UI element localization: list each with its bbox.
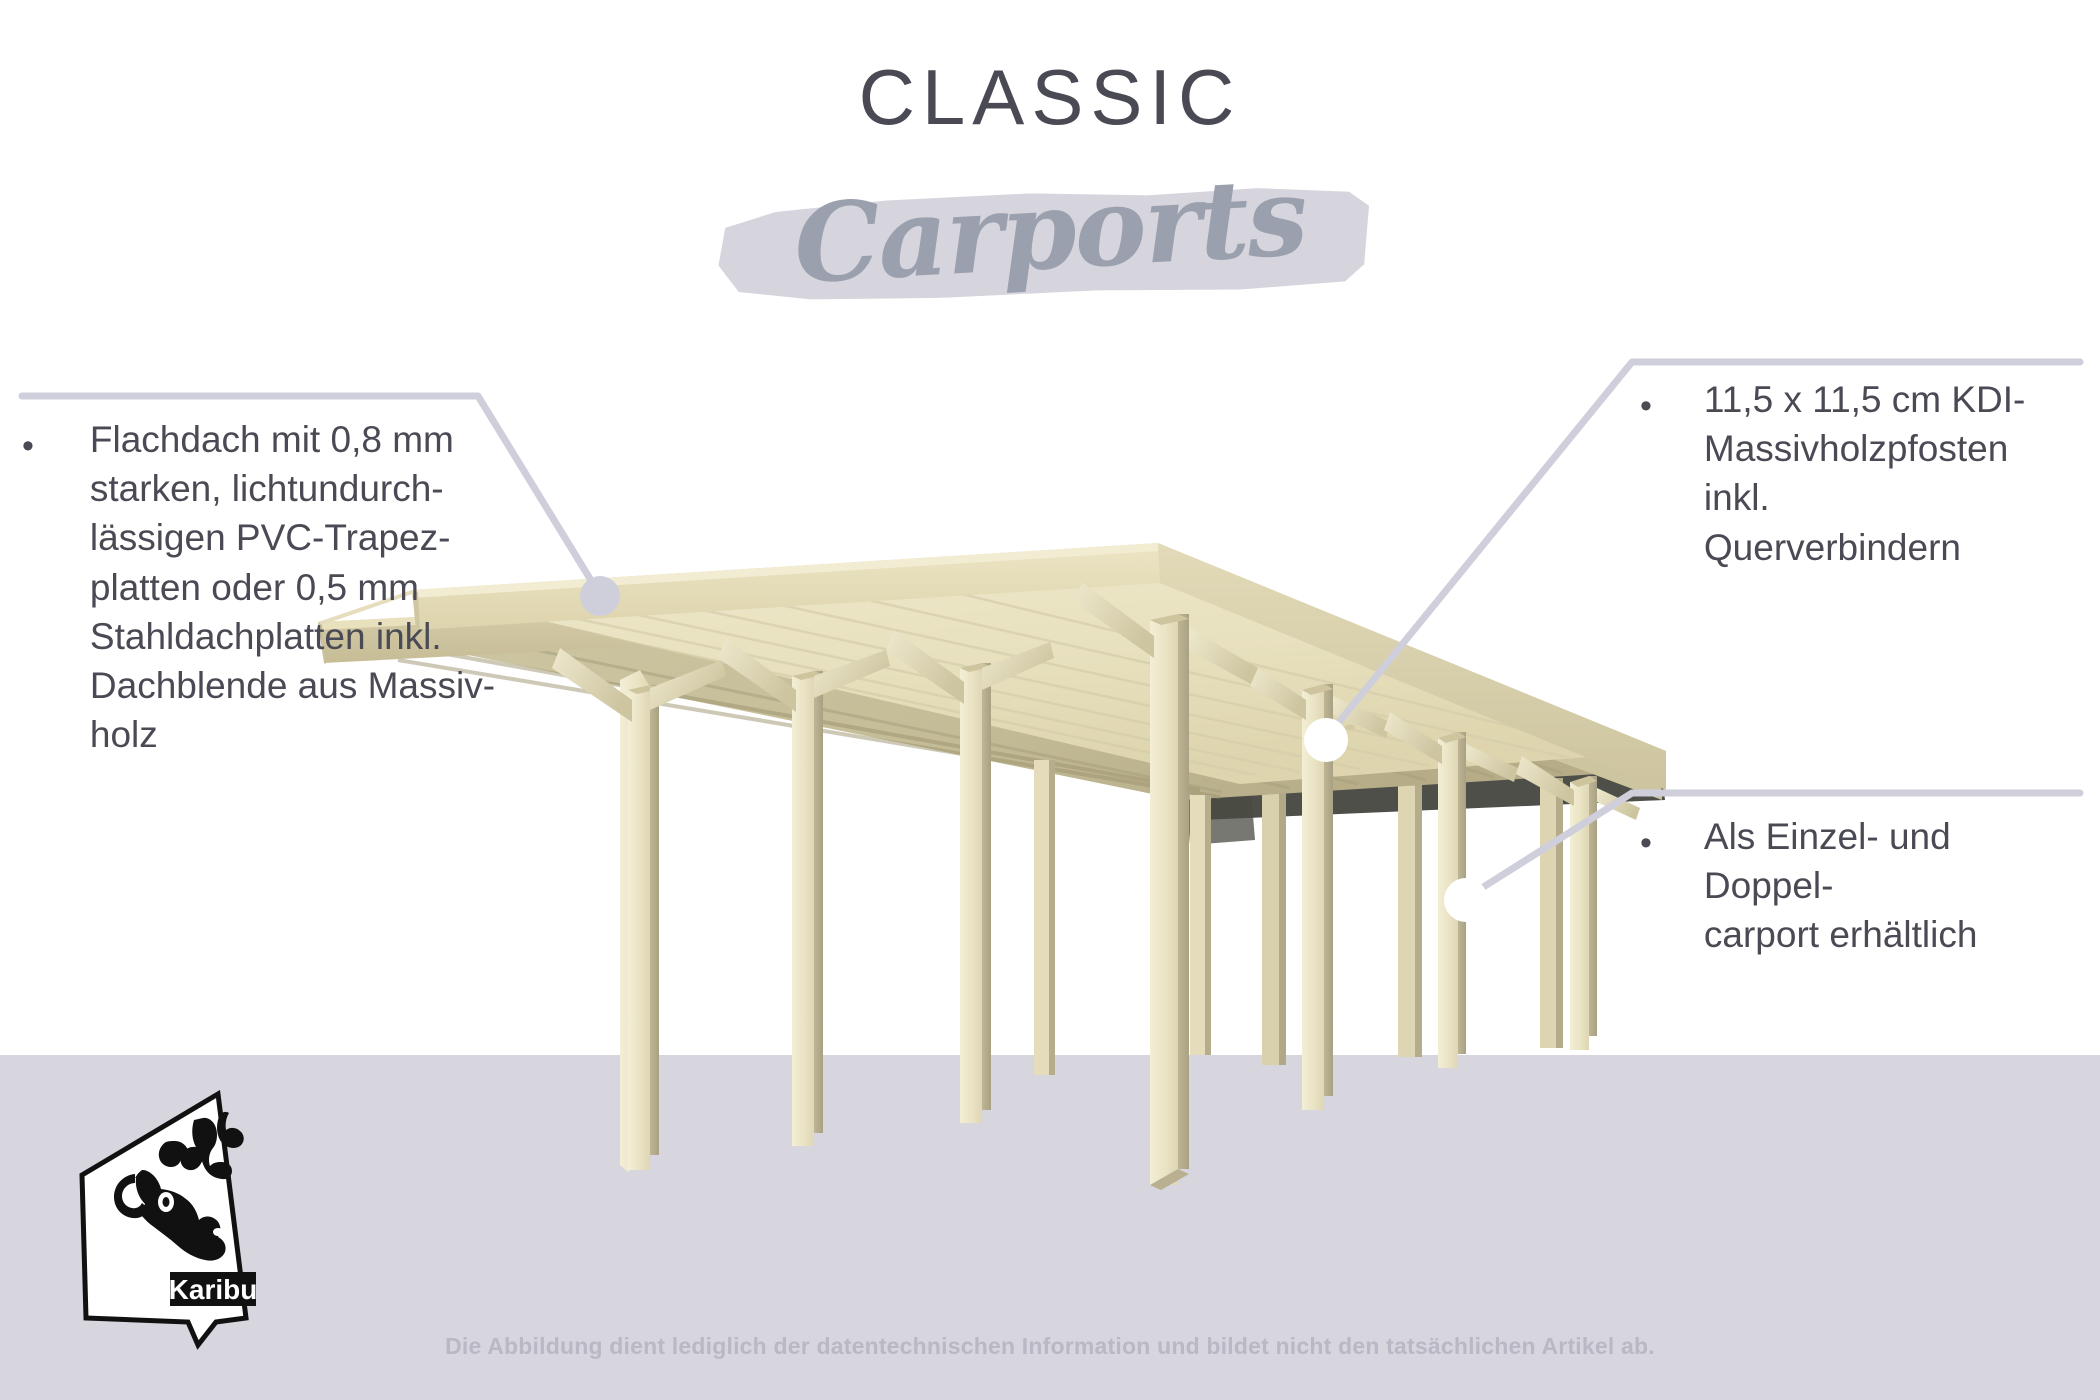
callout-roof: • Flachdach mit 0,8 mm starken, lichtund… xyxy=(22,415,502,759)
brand-logo: Karibu xyxy=(78,1090,288,1350)
callout-variant-text: Als Einzel- und Doppel- carport erhältli… xyxy=(1704,812,2080,960)
carport-corner-post xyxy=(1150,614,1189,1190)
callout-roof-bullet: • xyxy=(22,415,34,759)
carport-post-1 xyxy=(620,670,659,1172)
carport-post-3 xyxy=(960,663,991,1123)
callout-posts-bullet: • xyxy=(1640,375,1652,572)
callout-posts-text: 11,5 x 11,5 cm KDI- Massivholzpfosten in… xyxy=(1704,375,2080,572)
karibu-logo-icon: Karibu xyxy=(78,1090,288,1350)
poster-canvas: CLASSIC Carports xyxy=(0,0,2100,1400)
callout-roof-text: Flachdach mit 0,8 mm starken, lichtundur… xyxy=(90,415,495,759)
carport-rear-post-b xyxy=(1190,795,1211,1055)
callout-posts: • 11,5 x 11,5 cm KDI- Massivholzpfosten … xyxy=(1640,375,2080,572)
carport-post-2 xyxy=(792,671,823,1146)
callout-variant: • Als Einzel- und Doppel- carport erhält… xyxy=(1640,812,2080,960)
disclaimer-text: Die Abbildung dient lediglich der datent… xyxy=(0,1333,2100,1360)
carport-rear-post-a xyxy=(1034,760,1055,1075)
callout-variant-bullet: • xyxy=(1640,812,1652,960)
logo-wordmark-text: Karibu xyxy=(169,1274,258,1305)
